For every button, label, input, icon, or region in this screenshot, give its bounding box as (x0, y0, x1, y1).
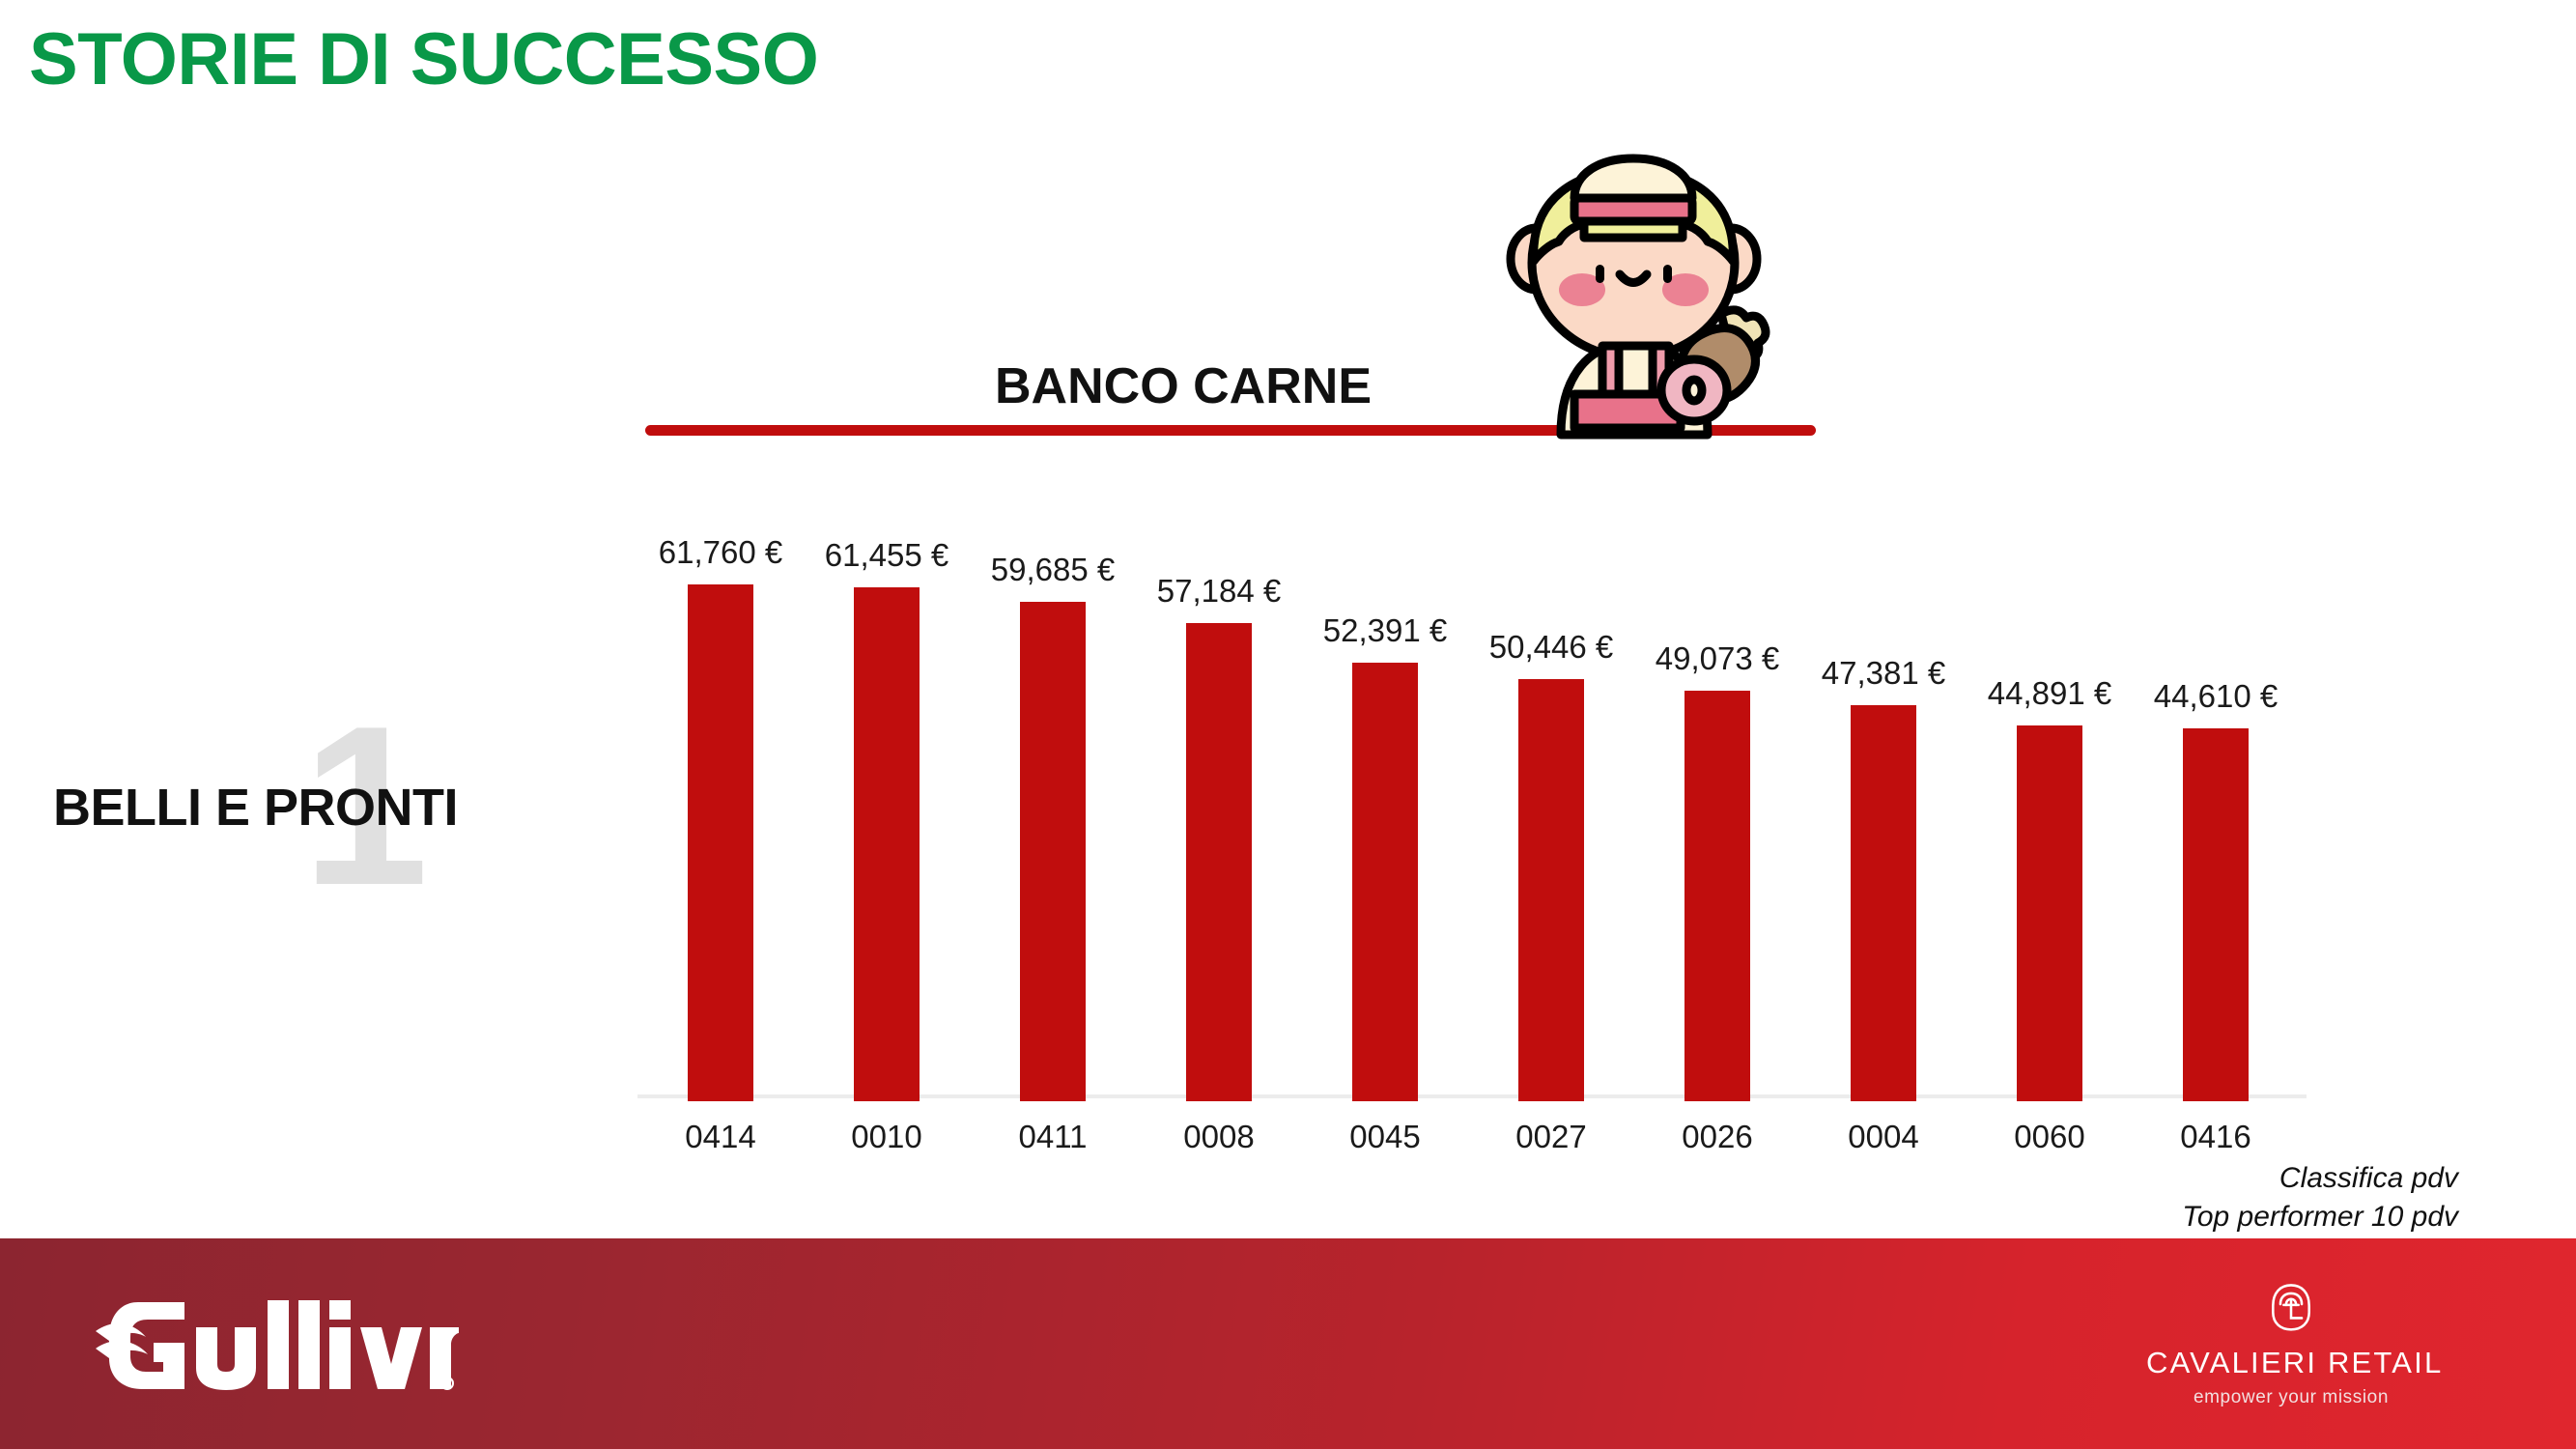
cavalieri-mark-icon (2258, 1271, 2324, 1337)
category-axis-label: 0045 (1302, 1119, 1468, 1155)
bar[interactable] (1020, 602, 1086, 1101)
bar[interactable] (2183, 728, 2249, 1101)
bar-column: 52,391 € (1302, 526, 1468, 1101)
footer-bar: R CAVALIERI RETAIL empower your mission (0, 1238, 2576, 1449)
category-axis-label: 0027 (1468, 1119, 1634, 1155)
bar-column: 47,381 € (1800, 526, 1967, 1101)
bar-column: 44,891 € (1967, 526, 2133, 1101)
bar-value-label: 59,685 € (991, 552, 1115, 588)
svg-text:R: R (444, 1379, 451, 1389)
bar[interactable] (1352, 663, 1418, 1101)
bar[interactable] (1851, 705, 1916, 1101)
category-axis-label: 0416 (2133, 1119, 2299, 1155)
bar-column: 57,184 € (1136, 526, 1302, 1101)
bar[interactable] (2017, 725, 2082, 1101)
bar-column: 50,446 € (1468, 526, 1634, 1101)
category-axis-label: 0026 (1634, 1119, 1800, 1155)
bar-value-label: 57,184 € (1157, 573, 1281, 610)
bar[interactable] (1518, 679, 1584, 1101)
category-axis-label: 0008 (1136, 1119, 1302, 1155)
bar[interactable] (688, 584, 753, 1101)
bar-value-label: 52,391 € (1323, 612, 1447, 649)
cavalieri-retail-logo: CAVALIERI RETAIL empower your mission (2146, 1271, 2436, 1421)
bar-column: 61,455 € (804, 526, 970, 1101)
bar[interactable] (1186, 623, 1252, 1101)
bar-value-label: 50,446 € (1489, 629, 1613, 666)
gulliver-logo: R (92, 1294, 459, 1396)
category-axis-label: 0010 (804, 1119, 970, 1155)
footnote-line-1: Classifica pdv (2182, 1159, 2458, 1198)
bar-value-label: 47,381 € (1822, 655, 1945, 692)
page-title: STORIE DI SUCCESSO (29, 17, 818, 101)
category-label: BELLI E PRONTI (53, 778, 458, 838)
bar-value-label: 44,891 € (1988, 675, 2111, 712)
bar-column: 49,073 € (1634, 526, 1800, 1101)
bar-column: 61,760 € (637, 526, 804, 1101)
bar[interactable] (1684, 691, 1750, 1101)
bar-value-label: 49,073 € (1656, 640, 1779, 677)
chart-footnote: Classifica pdv Top performer 10 pdv (2182, 1159, 2458, 1236)
bar-column: 44,610 € (2133, 526, 2299, 1101)
category-axis-label: 0414 (637, 1119, 804, 1155)
bar-value-label: 61,760 € (659, 534, 782, 571)
rank-category-block: 1 BELLI E PRONTI (53, 715, 594, 908)
category-axis-label: 0411 (970, 1119, 1136, 1155)
bar-column: 59,685 € (970, 526, 1136, 1101)
butcher-character-icon (1493, 145, 1773, 444)
cavalieri-tagline: empower your mission (2146, 1387, 2436, 1408)
bar-chart: 61,760 €61,455 €59,685 €57,184 €52,391 €… (637, 522, 2318, 1101)
category-axis-label: 0060 (1967, 1119, 2133, 1155)
bar-value-label: 61,455 € (825, 537, 948, 574)
category-axis-label: 0004 (1800, 1119, 1967, 1155)
bar-value-label: 44,610 € (2154, 678, 2278, 715)
footnote-line-2: Top performer 10 pdv (2182, 1198, 2458, 1236)
bar[interactable] (854, 587, 920, 1101)
chart-heading: BANCO CARNE (995, 357, 1372, 415)
cavalieri-name: CAVALIERI RETAIL (2146, 1346, 2436, 1380)
